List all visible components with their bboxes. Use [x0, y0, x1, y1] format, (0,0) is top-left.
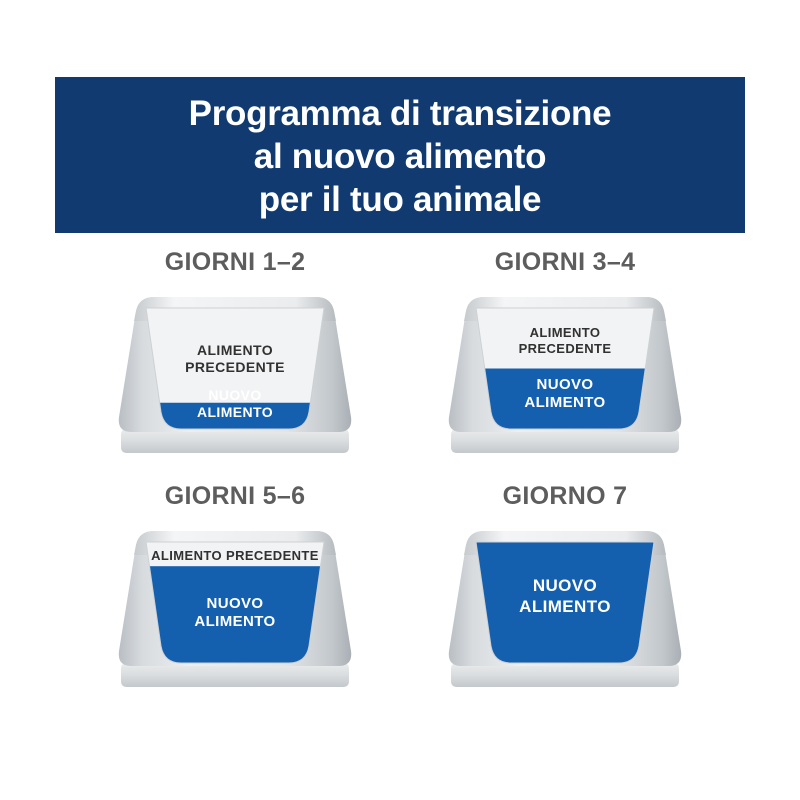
- bowl-giorni-1-2: ALIMENTO PRECEDENTE NUOVO ALIMENTO: [113, 289, 357, 456]
- day-label-giorni-1-2: GIORNI 1–2: [165, 248, 306, 277]
- bowl-base: [451, 663, 679, 687]
- step-card-giorni-5-6: GIORNI 5–6: [70, 482, 400, 690]
- page-title-line-1: Programma di transizione: [189, 92, 612, 135]
- header-banner: Programma di transizione al nuovo alimen…: [55, 77, 745, 233]
- step-card-giorni-1-2: GIORNI 1–2: [70, 248, 400, 456]
- bowl-giorni-5-6: ALIMENTO PRECEDENTE NUOVO ALIMENTO: [113, 523, 357, 690]
- bowl-graphic-giorno-7: [443, 523, 687, 690]
- bowl-base: [451, 429, 679, 453]
- transition-program-infographic: Programma di transizione al nuovo alimen…: [0, 0, 800, 800]
- bowl-row-top: GIORNI 1–2: [0, 248, 800, 456]
- bowl-graphic-giorni-3-4: [443, 289, 687, 456]
- bowl-base: [121, 663, 349, 687]
- day-label-giorni-3-4: GIORNI 3–4: [495, 248, 636, 277]
- bowl-giorno-7: NUOVO ALIMENTO: [443, 523, 687, 690]
- bowl-base: [121, 429, 349, 453]
- bowl-row-bottom: GIORNI 5–6: [0, 482, 800, 690]
- day-label-giorno-7: GIORNO 7: [503, 482, 628, 511]
- step-card-giorni-3-4: GIORNI 3–4: [400, 248, 730, 456]
- bowls-grid: GIORNI 1–2: [0, 248, 800, 690]
- page-title-line-3: per il tuo animale: [259, 178, 541, 221]
- day-label-giorni-5-6: GIORNI 5–6: [165, 482, 306, 511]
- bowl-graphic-giorni-5-6: [113, 523, 357, 690]
- bowl-giorni-3-4: ALIMENTO PRECEDENTE NUOVO ALIMENTO: [443, 289, 687, 456]
- bowl-graphic-giorni-1-2: [113, 289, 357, 456]
- step-card-giorno-7: GIORNO 7: [400, 482, 730, 690]
- page-title-line-2: al nuovo alimento: [254, 135, 546, 178]
